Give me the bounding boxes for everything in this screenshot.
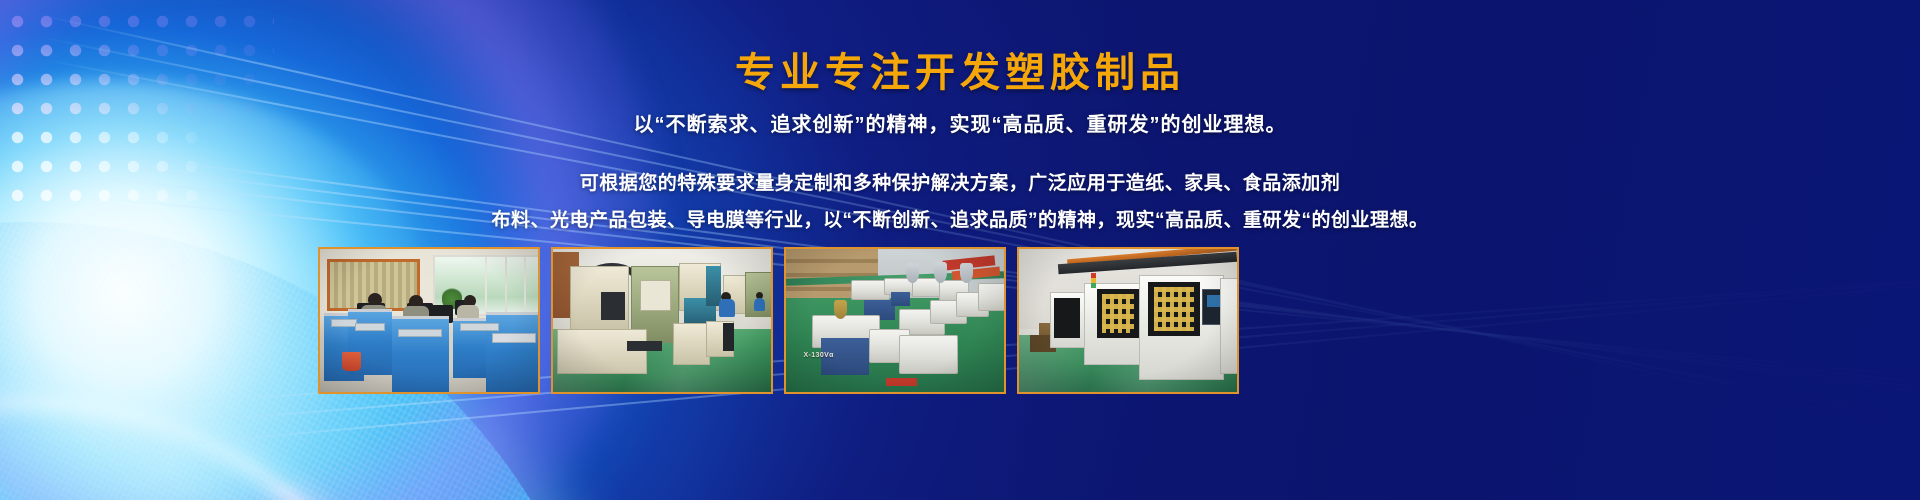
- banner-description-line-1: 可根据您的特殊要求量身定制和多种保护解决方案，广泛应用于造纸、家具、食品添加剂: [0, 168, 1920, 195]
- banner-description-line-2: 布料、光电产品包装、导电膜等行业，以“不断创新、追求品质”的精神，现实“高品质、…: [0, 205, 1920, 232]
- factory-photo-strip: X-130Vα: [318, 247, 1530, 394]
- banner-subtitle: 以“不断索求、追求创新”的精神，实现“高品质、重研发”的创业理想。: [0, 108, 1920, 137]
- photo-cnc-machining-centers: [1017, 247, 1239, 394]
- photo-machining-workshop: [551, 247, 773, 394]
- promo-banner: 专业专注开发塑胶制品 以“不断索求、追求创新”的精神，实现“高品质、重研发”的创…: [0, 0, 1920, 500]
- photo-office-workstations: [318, 247, 540, 394]
- banner-title: 专业专注开发塑胶制品: [0, 40, 1920, 98]
- photo-injection-molding-line: X-130Vα: [784, 247, 1006, 394]
